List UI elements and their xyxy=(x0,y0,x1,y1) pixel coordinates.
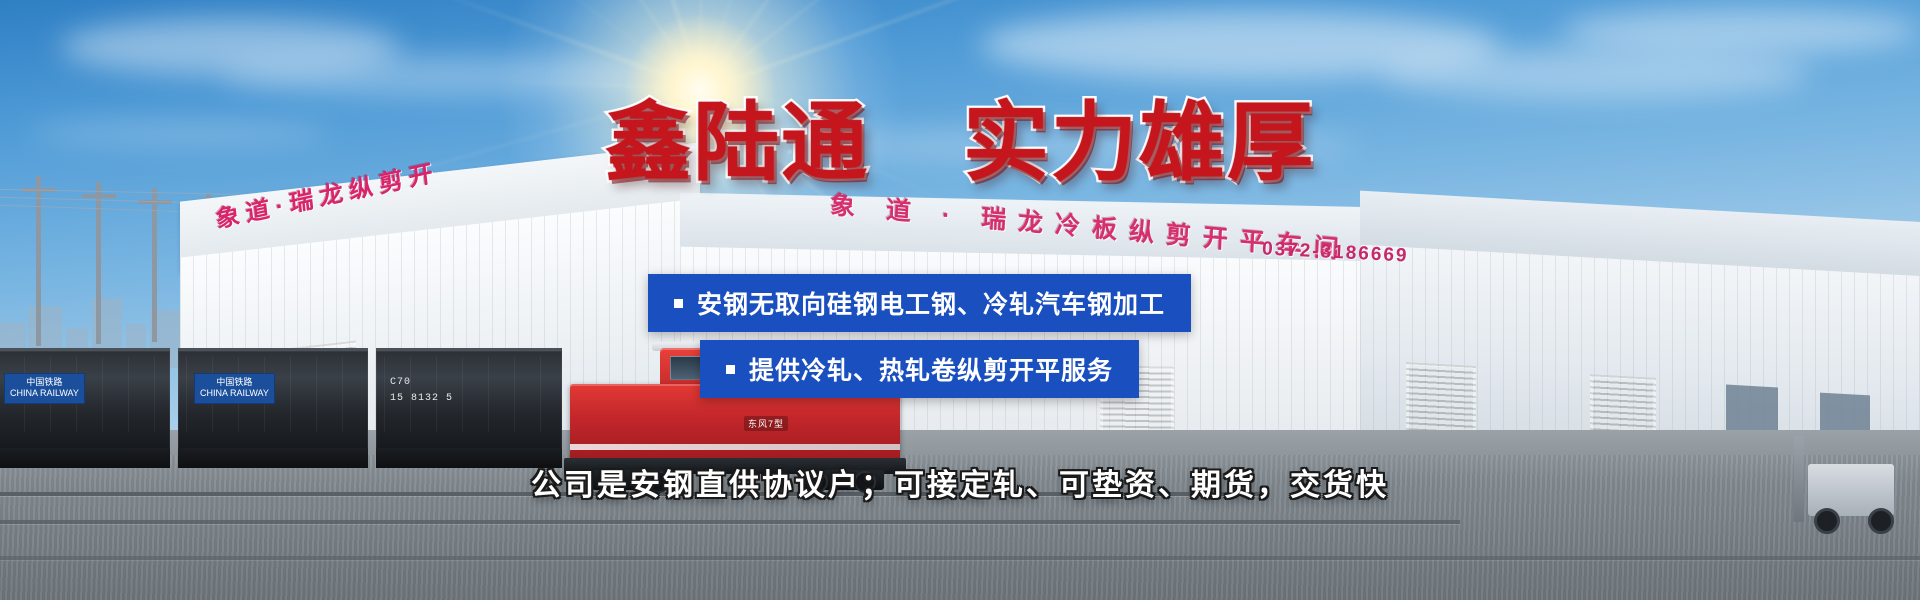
freight-wagon: 中国铁路CHINA RAILWAY xyxy=(178,348,368,452)
utility-pole xyxy=(36,176,41,346)
callout-text-2: 提供冷轧、热轧卷纵剪开平服务 xyxy=(749,351,1113,387)
cloud xyxy=(220,56,650,96)
pole-crossarm xyxy=(82,194,116,198)
rail-track xyxy=(0,520,1460,524)
forklift-mast xyxy=(1794,436,1804,522)
forklift-wheel xyxy=(1814,508,1840,534)
freight-wagon: 中国铁路CHINA RAILWAY xyxy=(0,348,170,452)
forklift-wheel xyxy=(1868,508,1894,534)
utility-pole xyxy=(96,182,101,344)
forklift-vehicle xyxy=(1792,430,1912,538)
locomotive-bogie xyxy=(798,470,884,490)
bullet-square-icon xyxy=(726,365,735,374)
callout-box-2[interactable]: 提供冷轧、热轧卷纵剪开平服务 xyxy=(700,340,1139,398)
hero-banner: 象道·瑞龙纵剪开 象 道 · 瑞龙冷板纵剪开平车间 0372-3186669 中… xyxy=(0,0,1920,600)
rail-track xyxy=(0,492,1260,496)
railway-plate: 中国铁路CHINA RAILWAY xyxy=(194,373,275,404)
sun-glow-icon xyxy=(625,15,775,165)
callout-box-1[interactable]: 安钢无取向硅钢电工钢、冷轧汽车钢加工 xyxy=(648,274,1191,332)
bullet-square-icon xyxy=(674,299,683,308)
freight-wagon-group: 中国铁路CHINA RAILWAY 中国铁路CHINA RAILWAY C70 … xyxy=(0,330,590,490)
locomotive-badge: 东风7型 xyxy=(744,416,788,431)
cloud xyxy=(1380,48,1810,100)
freight-wagon: C70 15 8132 5 xyxy=(376,348,562,452)
rail-track xyxy=(0,556,1920,560)
locomotive-bogie xyxy=(592,470,678,490)
cloud xyxy=(30,120,330,146)
railway-plate: 中国铁路CHINA RAILWAY xyxy=(4,373,85,404)
callout-text-1: 安钢无取向硅钢电工钢、冷轧汽车钢加工 xyxy=(697,285,1165,321)
wagon-mark-number: 15 8132 5 xyxy=(390,393,453,404)
wagon-mark-type: C70 xyxy=(390,377,411,388)
locomotive-stripe xyxy=(570,444,900,450)
cloud xyxy=(1560,8,1920,54)
